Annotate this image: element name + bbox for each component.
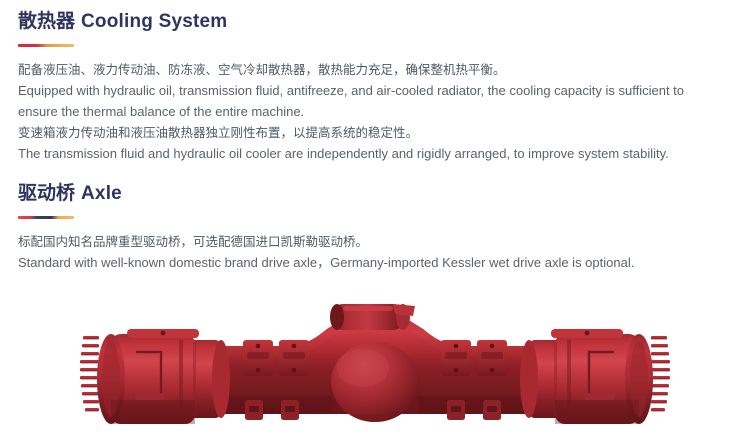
heading-cooling-system: 散热器Cooling System — [18, 8, 684, 35]
cooling-line-4: 变速箱液力传动油和液压油散热器独立刚性布置，以提高系统的稳定性。 — [18, 122, 684, 143]
heading-underline-cooling — [18, 44, 74, 47]
heading-underline-axle — [18, 216, 74, 219]
cooling-system-description: 配备液压油、液力传动油、防冻液、空气冷却散热器，散热能力充足，确保整机热平衡。 … — [18, 59, 684, 164]
cooling-line-1: 配备液压油、液力传动油、防冻液、空气冷却散热器，散热能力充足，确保整机热平衡。 — [18, 59, 684, 80]
section-cooling-system: 散热器Cooling System 配备液压油、液力传动油、防冻液、空气冷却散热… — [18, 8, 684, 164]
heading-axle-cn: 驱动桥 — [18, 182, 75, 204]
cooling-line-3: ensure the thermal balance of the entire… — [18, 101, 684, 122]
axle-line-1: 标配国内知名品牌重型驱动桥，可选配德国进口凯斯勒驱动桥。 — [18, 231, 634, 252]
cooling-line-5: The transmission fluid and hydraulic oil… — [18, 143, 684, 164]
axle-description: 标配国内知名品牌重型驱动桥，可选配德国进口凯斯勒驱动桥。 Standard wi… — [18, 231, 634, 273]
pinion-input-neck — [330, 304, 415, 330]
heading-axle-en: Axle — [81, 183, 122, 204]
drive-axle-image — [75, 296, 675, 436]
cooling-line-2: Equipped with hydraulic oil, transmissio… — [18, 80, 684, 101]
hub-assembly-left — [97, 329, 230, 424]
section-axle: 驱动桥Axle 标配国内知名品牌重型驱动桥，可选配德国进口凯斯勒驱动桥。 Sta… — [18, 180, 634, 273]
page-root: 散热器Cooling System 配备液压油、液力传动油、防冻液、空气冷却散热… — [0, 0, 750, 440]
hub-assembly-right — [520, 329, 653, 424]
heading-cooling-system-cn: 散热器 — [18, 10, 75, 32]
axle-line-2: Standard with well-known domestic brand … — [18, 252, 634, 273]
differential-housing — [331, 342, 419, 422]
heading-axle: 驱动桥Axle — [18, 180, 634, 207]
wheel-studs-right — [651, 336, 670, 411]
wheel-studs-left — [80, 336, 99, 411]
heading-cooling-system-en: Cooling System — [81, 11, 227, 32]
